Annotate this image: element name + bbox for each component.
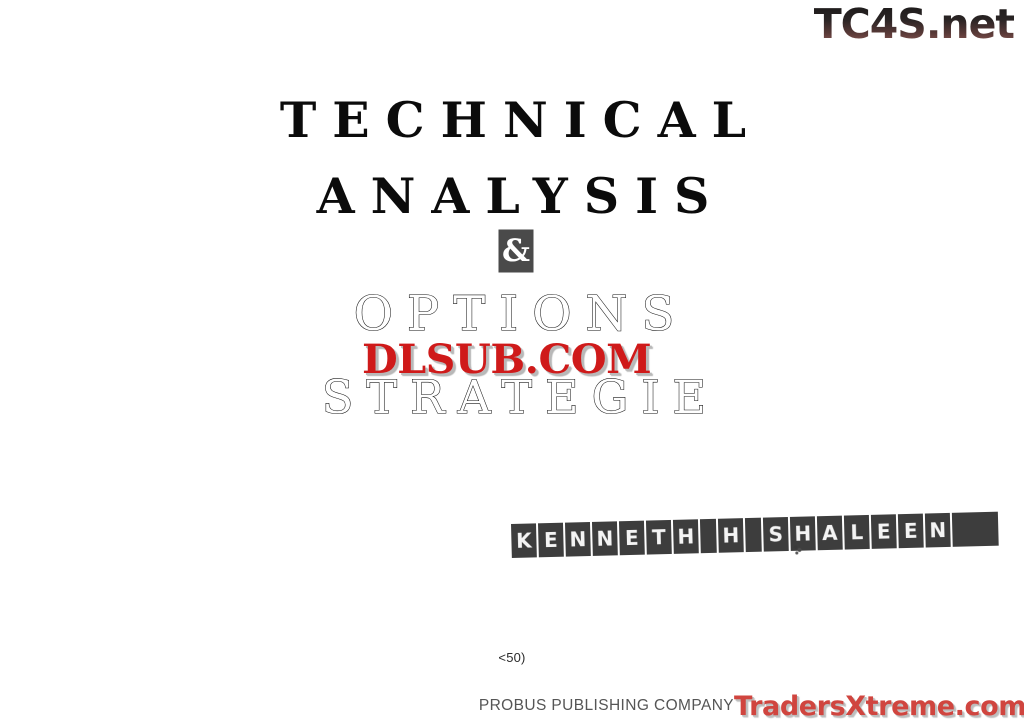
author-letter-tile: T [646, 520, 672, 555]
book-cover-scan: TC4S.net TECHNICAL ANALYSIS & OPTIONS ST… [0, 0, 1024, 724]
tradersxtreme-watermark: TradersXtreme.com [734, 693, 1024, 721]
tc4s-site-logo: TC4S.net [814, 4, 1014, 45]
author-letter-tile [745, 518, 762, 552]
author-letter-tile: S [763, 517, 789, 552]
title-line-technical: TECHNICAL [0, 96, 1024, 145]
author-letter-tile: H [718, 518, 744, 553]
author-letter-tile: H [673, 519, 699, 554]
publisher-name: PROBUS PUBLISHING COMPANY [479, 697, 734, 721]
author-letter-tile: E [871, 514, 897, 549]
author-letter-tile: E [898, 514, 924, 549]
author-letter-tile [952, 512, 999, 547]
author-letter-tile: H [790, 516, 816, 551]
dlsub-watermark: DLSUB.COM [362, 340, 651, 380]
author-letter-tile: A [817, 516, 843, 551]
footer-row: PROBUS PUBLISHING COMPANY TradersXtreme.… [0, 693, 1024, 721]
ampersand-box: & [499, 230, 533, 272]
author-letter-tile: E [619, 521, 645, 556]
ampersand-container: & [0, 230, 1024, 274]
title-line-options: OPTIONS [0, 290, 1024, 338]
author-letter-tile: N [925, 513, 951, 548]
author-letter-tile: E [538, 523, 564, 558]
title-line-analysis: ANALYSIS [0, 172, 1024, 221]
page-number: <50) [0, 650, 1024, 665]
author-letter-tile: K [511, 523, 537, 558]
author-letter-tile: N [592, 521, 618, 556]
author-letter-tile: L [844, 515, 870, 550]
author-letter-tile [700, 519, 717, 553]
author-name-band: KENNETHHSHALEEN [511, 512, 999, 558]
author-letter-tile: N [565, 522, 591, 557]
